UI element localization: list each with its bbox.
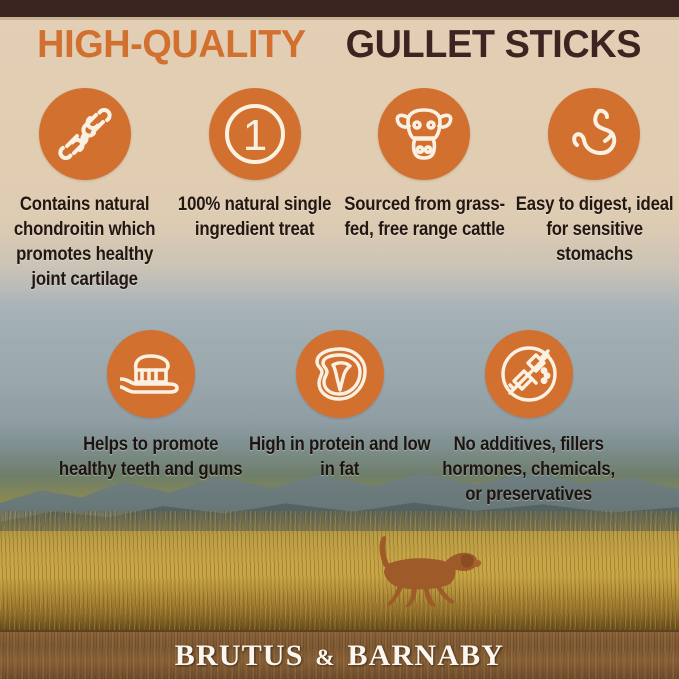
- top-bar: [0, 0, 679, 17]
- cow-head-icon-badge: [378, 88, 470, 180]
- brand-second-word: BARNABY: [347, 639, 504, 672]
- steak-icon-badge: [296, 330, 384, 418]
- feature-grass-fed: Sourced from grass-fed, free range cattl…: [340, 88, 510, 292]
- title-product: GULLET STICKS: [346, 24, 642, 66]
- infographic-canvas: HIGH-QUALITY GULLET STICKS: [0, 0, 679, 679]
- feature-caption: Helps to promote healthy teeth and gums: [57, 432, 244, 482]
- page-title: HIGH-QUALITY GULLET STICKS: [0, 24, 679, 66]
- feature-row-1: Contains natural chondroitin which promo…: [0, 88, 679, 292]
- feature-caption: Sourced from grass-fed, free range cattl…: [340, 192, 508, 242]
- brand-first-word: BRUTUS: [175, 639, 304, 672]
- feature-protein: High in protein and low in fat: [245, 330, 434, 507]
- bone-joint-icon: [56, 105, 114, 163]
- feature-caption: No additives, fillers hormones, chemical…: [435, 432, 622, 507]
- no-syringe-icon-badge: [485, 330, 573, 418]
- title-highlight: HIGH-QUALITY: [37, 24, 306, 66]
- feature-caption: 100% natural single ingredient treat: [171, 192, 339, 242]
- toothbrush-icon: [120, 348, 182, 400]
- toothbrush-icon-badge: [107, 330, 195, 418]
- svg-text:1: 1: [242, 111, 266, 160]
- brand-banner: BRUTUS & BARNABY: [0, 630, 679, 679]
- feature-single-ingredient: 1 100% natural single ingredient treat: [170, 88, 340, 292]
- number-one-icon-badge: 1: [209, 88, 301, 180]
- brand-name: BRUTUS & BARNABY: [175, 639, 504, 673]
- bone-joint-icon-badge: [39, 88, 131, 180]
- feature-caption: High in protein and low in fat: [246, 432, 433, 482]
- top-divider: [0, 17, 679, 20]
- stomach-icon-badge: [548, 88, 640, 180]
- no-syringe-icon: [498, 343, 560, 405]
- feature-chondroitin: Contains natural chondroitin which promo…: [0, 88, 170, 292]
- feature-caption: Easy to digest, ideal for sensitive stom…: [510, 192, 678, 267]
- number-one-icon: 1: [219, 98, 291, 170]
- feature-easy-digest: Easy to digest, ideal for sensitive stom…: [509, 88, 679, 292]
- running-dog: [350, 533, 482, 607]
- steak-icon: [310, 345, 370, 403]
- stomach-icon: [565, 105, 623, 163]
- feature-dental: Helps to promote healthy teeth and gums: [56, 330, 245, 507]
- brand-ampersand: &: [312, 645, 338, 670]
- cow-head-icon: [393, 105, 455, 163]
- feature-no-additives: No additives, fillers hormones, chemical…: [434, 330, 623, 507]
- feature-row-2: Helps to promote healthy teeth and gums …: [56, 330, 623, 507]
- grass-field: [0, 511, 679, 631]
- feature-caption: Contains natural chondroitin which promo…: [1, 192, 169, 292]
